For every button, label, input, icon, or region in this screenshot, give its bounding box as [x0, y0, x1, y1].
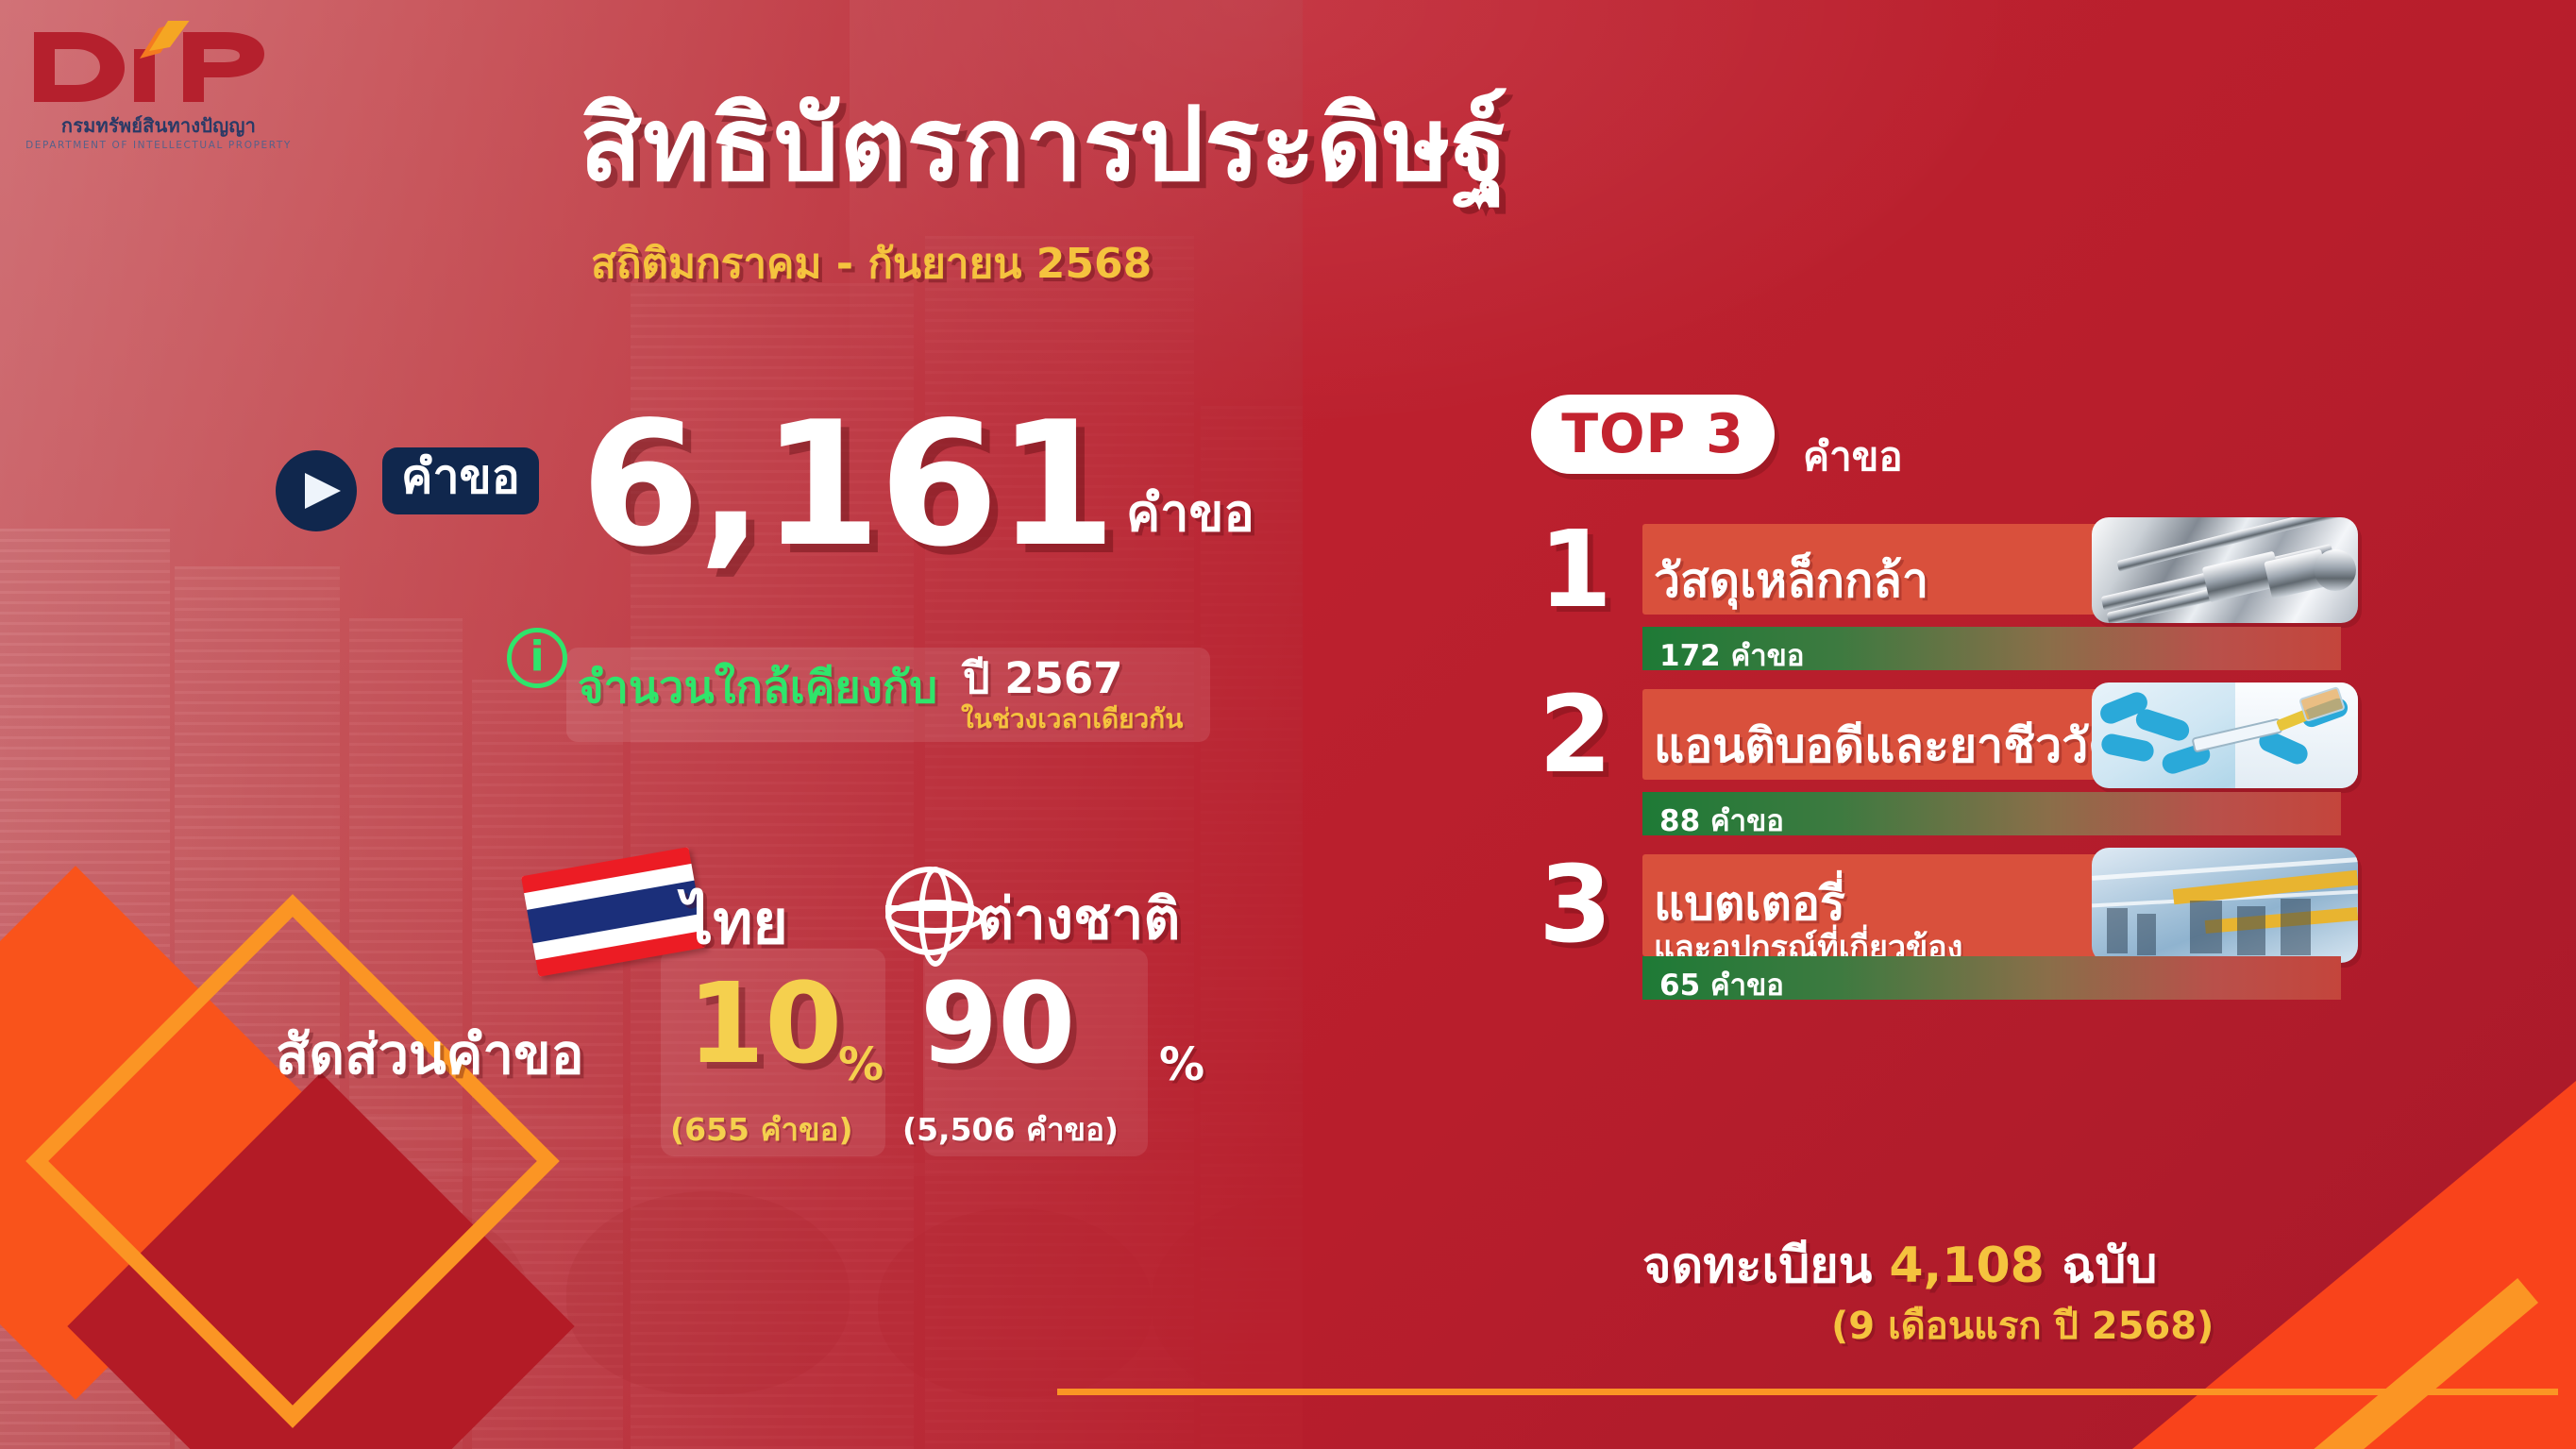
kpi-tag-label: คำขอ	[382, 447, 539, 514]
page-subtitle: สถิติมกราคม - กันยายน 2568	[591, 230, 1152, 296]
kpi-total-unit: คำขอ	[1126, 472, 1254, 553]
rank-count-label-1: 172 คำขอ	[1659, 632, 1804, 679]
rank-name-1: วัสดุเหล็กกล้า	[1654, 544, 1928, 618]
share-count-thai: (655 คำขอ)	[670, 1104, 853, 1154]
share-section-label: สัดส่วนคำขอ	[276, 1010, 584, 1098]
dip-logo-icon	[17, 21, 300, 113]
rank-count-label-3: 65 คำขอ	[1659, 961, 1784, 1008]
dip-logo: กรมทรัพย์สินทางปัญญา DEPARTMENT OF INTEL…	[17, 21, 300, 160]
share-percent-thai: 10	[687, 968, 842, 1079]
rank-thumbnail-1	[2092, 517, 2358, 623]
footer-registered-value: 4,108	[1889, 1238, 2044, 1294]
rank-thumbnail-3	[2092, 848, 2358, 963]
globe-icon	[885, 867, 974, 955]
footer-period: (9 เดือนแรก ปี 2568)	[1831, 1295, 2214, 1356]
kpi-note-comparison: จำนวนใกล้เคียงกับ	[578, 651, 937, 722]
top3-suffix-label: คำขอ	[1803, 426, 1903, 488]
info-icon-glyph: i	[512, 635, 563, 679]
rank-number-1: 1	[1539, 517, 1612, 623]
top3-pill-label: TOP 3	[1531, 395, 1775, 474]
page-title: สิทธิบัตรการประดิษฐ์	[580, 62, 1508, 225]
footer-registered-prefix: จดทะเบียน	[1642, 1238, 1889, 1294]
share-percent-sign-foreign: %	[1159, 1038, 1204, 1091]
rank-count-bar-3: 65 คำขอ	[1642, 956, 2341, 1000]
footer-registered-suffix: ฉบับ	[2045, 1238, 2158, 1294]
kpi-note-period: ในช่วงเวลาเดียวกัน	[961, 699, 1183, 740]
share-label-foreign: ต่างชาติ	[977, 874, 1180, 964]
rank-count-bar-2: 88 คำขอ	[1642, 792, 2341, 835]
kpi-total-value: 6,161	[581, 384, 1115, 584]
share-label-thai: ไทย	[682, 874, 788, 970]
info-circle-icon: i	[507, 628, 567, 688]
rank-thumbnail-2	[2092, 682, 2358, 788]
share-count-foreign: (5,506 คำขอ)	[902, 1104, 1119, 1154]
rank-count-label-2: 88 คำขอ	[1659, 797, 1784, 844]
rank-number-3: 3	[1539, 852, 1612, 958]
top3-pill: TOP 3	[1531, 395, 1775, 474]
share-percent-foreign: 90	[920, 968, 1075, 1079]
infographic-canvas: กรมทรัพย์สินทางปัญญา DEPARTMENT OF INTEL…	[0, 0, 2576, 1449]
footer-registered-line: จดทะเบียน 4,108 ฉบับ	[1642, 1225, 2157, 1304]
play-triangle-icon	[276, 450, 357, 531]
dip-logo-english-name: DEPARTMENT OF INTELLECTUAL PROPERTY	[17, 140, 300, 151]
rank-count-bar-1: 172 คำขอ	[1642, 627, 2341, 670]
dip-logo-thai-name: กรมทรัพย์สินทางปัญญา	[17, 115, 300, 137]
rank-name-2: แอนติบอดีและยาชีววัตถุ	[1654, 709, 2147, 783]
rank-number-2: 2	[1539, 682, 1612, 788]
dip-logo-mark	[17, 21, 300, 113]
bottom-divider-line	[1057, 1389, 2558, 1395]
share-percent-sign-thai: %	[838, 1038, 884, 1091]
